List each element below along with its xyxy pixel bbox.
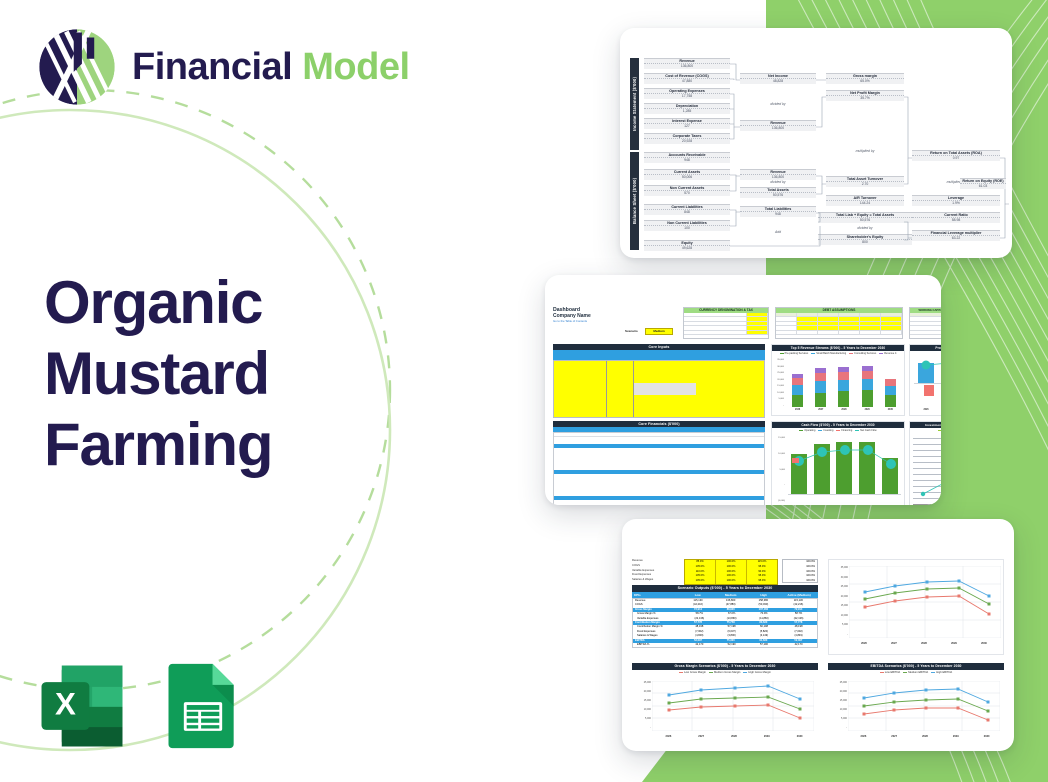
scenarios-sheet: Revenue COGS Variable Expenses Fixed Exp… (632, 559, 1006, 741)
y-tick: 5,000 (773, 469, 785, 471)
dashboard-sheet: Dashboard Company Name Go to the Table o… (553, 307, 935, 493)
chart-x-axis: 2026 2027 2028 2029 2030 (848, 735, 1002, 738)
x-tick: 2030 (981, 642, 987, 645)
y-tick: 25,000 (830, 585, 848, 588)
y-tick: 15,000 (773, 437, 785, 439)
x-tick: 2028 (921, 642, 927, 645)
y-tick: 15,000 (633, 699, 651, 702)
y-tick: 20,000 (830, 595, 848, 598)
cell: EBITDA % (633, 643, 683, 647)
page-title-line3: Farming (44, 410, 384, 481)
y-tick: - (830, 633, 848, 636)
x-tick: 2027 (891, 642, 897, 645)
y-tick: 10,000 (773, 392, 784, 394)
y-tick: 10,000 (773, 453, 785, 455)
bar-group (885, 379, 896, 407)
brand-name-part1: Financial (132, 46, 292, 88)
y-tick: 30,000 (830, 576, 848, 579)
flow-connectors (630, 54, 1010, 258)
y-tick: 5,000 (830, 623, 848, 626)
google-sheets-icon[interactable] (164, 660, 242, 752)
chart-cash-flow[interactable]: Cash Flow ($'000) - 5 Years to December … (771, 421, 905, 505)
y-tick: 5,000 (829, 717, 847, 720)
cell: 105.0% (685, 579, 715, 584)
working-capital-panel[interactable]: WORKING CAPITAL & DEPRECIATION (909, 307, 941, 339)
y-tick: - (773, 405, 784, 407)
x-tick: 2027 (818, 409, 823, 411)
financial-statement-flow-card[interactable]: Income Statement ($'000) Balance Sheet (… (620, 28, 1012, 258)
y-tick: - (633, 726, 651, 729)
x-tick: 2027 (891, 735, 897, 738)
legend-item: Net Cash Flow (860, 429, 876, 432)
y-tick: 25,000 (829, 681, 847, 684)
flow-value: 61.03 (960, 184, 1006, 188)
x-tick: 2026 (666, 735, 672, 738)
scenario-outputs-table[interactable]: Scenario Outputs ($'000) - 5 Years to De… (632, 585, 818, 657)
chart-top5-revenue-streams[interactable]: Top 5 Revenue Streams ($'000) - 5 Years … (771, 344, 905, 416)
x-tick: 2029 (951, 642, 957, 645)
x-tick: 2026 (795, 409, 800, 411)
chart-gross-margin-scenarios[interactable]: Gross Margin Scenarios ($'000) - 5 Years… (632, 663, 818, 743)
brand-wordmark: Financial Model (132, 48, 410, 86)
y-tick: - (829, 726, 847, 729)
dashboard-header: Dashboard Company Name Go to the Table o… (553, 307, 591, 323)
y-tick: 5,000 (773, 398, 784, 400)
slide-canvas: Financial Model Organic Mustard Farming … (0, 0, 1048, 782)
chart-x-axis: 2026 2027 2028 2029 2030 (849, 642, 999, 645)
y-tick: 35,000 (773, 359, 784, 361)
y-tick: - (773, 484, 785, 486)
x-tick: 2029 (865, 409, 870, 411)
y-tick: 20,000 (633, 690, 651, 693)
dupont-flow-diagram: Income Statement ($'000) Balance Sheet (… (630, 54, 1004, 238)
cell: 100.0% (783, 579, 815, 584)
table-title: Scenario Outputs ($'000) - 5 Years to De… (632, 585, 818, 592)
y-tick: 15,000 (829, 699, 847, 702)
legend-item: Pre-packing Services (785, 352, 809, 355)
chart-plot (788, 437, 901, 505)
legend-item: Financing (841, 429, 852, 432)
bar-group (862, 366, 873, 407)
column-header: Medium (714, 592, 747, 598)
legend-item: Revenue 4 (884, 352, 896, 355)
microsoft-excel-icon[interactable]: X (36, 660, 128, 752)
file-format-icons: X (36, 660, 242, 752)
column-header: Active (Medium) (780, 592, 818, 598)
legend-item: Consulting Services (854, 352, 876, 355)
brand-name-part2: Model (302, 46, 409, 88)
legend-item: High Gross Margin (748, 671, 770, 674)
cell: 100.0% (716, 579, 746, 584)
x-tick: 2026 (861, 735, 867, 738)
legend-item: Low EBITDA (885, 671, 900, 674)
y-tick: 30,000 (773, 366, 784, 368)
chart-legend: Pre-packing Services Small Batch Manufac… (772, 351, 904, 355)
y-tick: 15,000 (830, 604, 848, 607)
column-header: High (747, 592, 780, 598)
y-tick: 35,000 (830, 566, 848, 569)
bar-group (792, 374, 803, 407)
chart-x-axis: 2026 2027 2028 2029 2030 (652, 735, 816, 738)
pie-chart-bars-circle-logo-icon (36, 26, 118, 108)
x-tick: 2028 (731, 735, 737, 738)
x-tick: 2030 (888, 409, 893, 411)
chart-ebitda-scenarios[interactable]: EBITDA Scenarios ($'000) - 5 Years to De… (828, 663, 1004, 743)
bar-group (815, 368, 826, 407)
x-tick: 2028 (841, 409, 846, 411)
legend-item: Medium Gross Margin (714, 671, 740, 674)
row-label: Salaries & Wages (632, 578, 684, 583)
y-tick: 15,000 (773, 385, 784, 387)
x-tick: 2027 (698, 735, 704, 738)
y-tick: 10,000 (830, 614, 848, 617)
x-tick: 2029 (764, 735, 770, 738)
legend-item: Small Batch Manufacturing (816, 352, 846, 355)
chart-plot (652, 681, 814, 731)
chart-plot (849, 566, 1001, 638)
legend-item: Operating (804, 429, 815, 432)
chart-revenue-scenarios[interactable]: 35,000 30,000 25,000 20,000 15,000 10,00… (828, 559, 1004, 655)
cell: 42,170 (780, 643, 817, 647)
column-header: KPIs (632, 592, 681, 598)
y-tick: 5,000 (633, 717, 651, 720)
chart-title: Gross Margin Scenarios ($'000) - 5 Years… (632, 663, 818, 670)
chart-legend: Payback year Cumulative Cash Generated (… (910, 428, 941, 432)
chart-title: EBITDA Scenarios ($'000) - 5 Years to De… (828, 663, 1004, 670)
scenario-label: Scenario (625, 329, 638, 333)
chart-plot (913, 438, 941, 504)
y-tick: 10,000 (633, 708, 651, 711)
svg-text:X: X (55, 686, 76, 721)
x-tick: 2030 (984, 735, 990, 738)
scenario-value-dropdown[interactable]: Medium (645, 328, 673, 335)
core-inputs-table[interactable]: Core Inputs (553, 344, 765, 416)
x-tick: 2026 (923, 409, 928, 411)
x-tick: 2029 (953, 735, 959, 738)
chart-legend: Revenue EBITDA EBITDA % (910, 351, 941, 355)
y-tick: 25,000 (633, 681, 651, 684)
y-tick: 10,000 (829, 708, 847, 711)
debt-assumptions-panel[interactable]: DEBT ASSUMPTIONS (775, 307, 903, 339)
chart-legend: Low EBITDA Medium EBITDA High EBITDA (828, 670, 1004, 674)
x-tick: 2028 (922, 735, 928, 738)
x-tick: 2026 (861, 642, 867, 645)
legend-item: High EBITDA (936, 671, 952, 674)
chart-investment-payback[interactable]: Investment Payback Chart ($'000) - 5 Yea… (909, 421, 941, 505)
scenario-assumptions-table[interactable]: Revenue COGS Variable Expenses Fixed Exp… (632, 559, 808, 583)
chart-profitability[interactable]: Profitability ($'000) - 5 Years to Decem… (909, 344, 941, 416)
bar-group (838, 367, 849, 407)
chart-title: Top 5 Revenue Streams ($'000) - 5 Years … (772, 345, 904, 351)
y-tick: 20,000 (773, 379, 784, 381)
currency-panel[interactable]: CURRENCY DENOMINATION & TAX (683, 307, 769, 339)
x-tick: 2030 (797, 735, 803, 738)
page-title: Organic Mustard Farming (44, 268, 384, 480)
chart-x-axis: 2026 2027 2028 2029 2030 (786, 409, 902, 411)
chart-plot (914, 359, 941, 409)
chart-legend: Operating Investing Financing Net Cash F… (772, 428, 904, 432)
chart-bars (786, 359, 902, 407)
cell: 42,170 (683, 643, 715, 647)
chart-x-axis: 2026 2027 2028 2029 2030 (914, 409, 941, 411)
y-tick: 20,000 (829, 690, 847, 693)
scenarios-card[interactable]: Revenue COGS Variable Expenses Fixed Exp… (622, 519, 1014, 751)
y-tick: (5,000) (773, 500, 785, 502)
table-of-contents-link[interactable]: Go to the Table of Contents (553, 319, 591, 323)
core-financials-table[interactable]: Core Financials ($'000) (553, 421, 765, 505)
legend-item: Investing (823, 429, 833, 432)
brand-logo: Financial Model (36, 26, 410, 108)
cell: 57,190 (748, 643, 780, 647)
legend-item: Medium EBITDA (908, 671, 928, 674)
page-title-line1: Organic (44, 268, 384, 339)
cell: 95.0% (747, 579, 777, 584)
cell: 52,190 (715, 643, 747, 647)
column-header: Low (681, 592, 714, 598)
y-tick: 25,000 (773, 372, 784, 374)
dashboard-card[interactable]: Dashboard Company Name Go to the Table o… (545, 275, 941, 505)
chart-plot (848, 681, 1000, 731)
chart-legend: Low Gross Margin Medium Gross Margin Hig… (632, 670, 818, 674)
legend-item: Low Gross Margin (684, 671, 706, 674)
page-title-line2: Mustard (44, 339, 384, 410)
